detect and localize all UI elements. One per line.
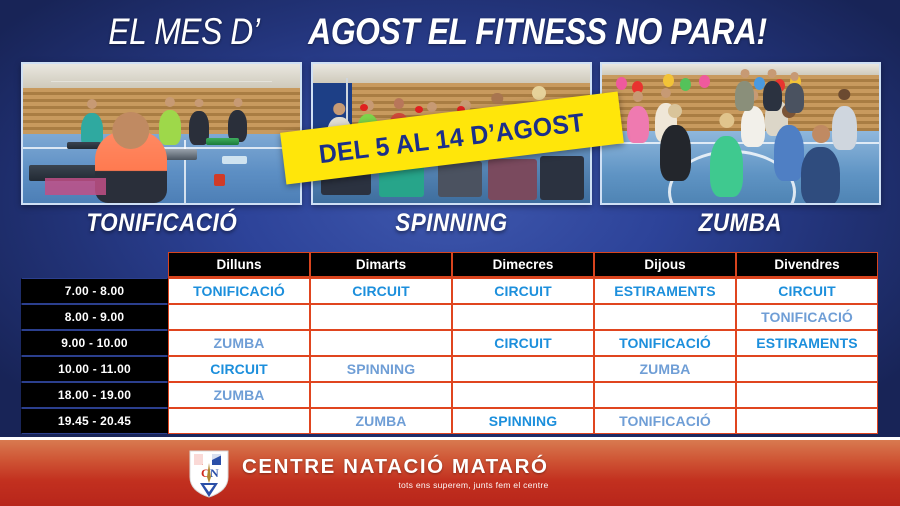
class-slot: TONIFICACIÓ	[736, 304, 878, 330]
class-slot	[310, 304, 452, 330]
category-label-tonificacio: TONIFICACIÓ	[21, 206, 302, 240]
day-header-dilluns: Dilluns	[168, 252, 310, 278]
svg-text:N: N	[210, 466, 219, 480]
footer-bar: C N CENTRE NATACIÓ MATARÓ tots ens super…	[0, 440, 900, 506]
class-slot	[594, 304, 736, 330]
brand-tagline: tots ens superem, junts fem el centre	[242, 480, 549, 490]
time-label: 8.00 - 9.00	[21, 304, 168, 330]
class-slot: ZUMBA	[168, 382, 310, 408]
photo-zumba	[600, 62, 881, 205]
brand-name: CENTRE NATACIÓ MATARÓ	[242, 456, 549, 478]
table-row: 19.45 - 20.45 ZUMBA SPINNING TONIFICACIÓ	[21, 408, 878, 434]
table-row: 9.00 - 10.00 ZUMBA CIRCUIT TONIFICACIÓ E…	[21, 330, 878, 356]
category-label-text: TONIFICACIÓ	[86, 206, 237, 240]
category-label-text: SPINNING	[395, 206, 507, 240]
class-slot: CIRCUIT	[452, 330, 594, 356]
page-title: EL MES D’AGOST EL FITNESS NO PARA!	[0, 8, 900, 56]
class-slot: CIRCUIT	[736, 278, 878, 304]
class-slot	[310, 330, 452, 356]
class-slot	[452, 304, 594, 330]
category-label-text: ZUMBA	[699, 206, 782, 240]
class-slot	[452, 356, 594, 382]
class-slot: SPINNING	[452, 408, 594, 434]
class-slot	[452, 382, 594, 408]
photo-tonificacio	[21, 62, 302, 205]
class-slot: CIRCUIT	[310, 278, 452, 304]
class-slot: ESTIRAMENTS	[736, 330, 878, 356]
table-header-row: Dilluns Dimarts Dimecres Dijous Divendre…	[21, 252, 878, 278]
time-label: 19.45 - 20.45	[21, 408, 168, 434]
table-corner-cell	[21, 252, 168, 278]
category-label-zumba: ZUMBA	[600, 206, 881, 240]
day-header-divendres: Divendres	[736, 252, 878, 278]
brand-text-block: CENTRE NATACIÓ MATARÓ tots ens superem, …	[242, 456, 549, 490]
category-label-spinning: SPINNING	[311, 206, 592, 240]
class-slot: TONIFICACIÓ	[594, 330, 736, 356]
schedule-table: Dilluns Dimarts Dimecres Dijous Divendre…	[21, 252, 878, 434]
day-header-dimarts: Dimarts	[310, 252, 452, 278]
class-slot: SPINNING	[310, 356, 452, 382]
class-slot	[736, 356, 878, 382]
table-row: 10.00 - 11.00 CIRCUIT SPINNING ZUMBA	[21, 356, 878, 382]
class-slot	[736, 382, 878, 408]
time-label: 10.00 - 11.00	[21, 356, 168, 382]
class-slot	[736, 408, 878, 434]
time-label: 7.00 - 8.00	[21, 278, 168, 304]
fitness-promo-poster: EL MES D’AGOST EL FITNESS NO PARA!	[0, 0, 900, 506]
class-slot	[310, 382, 452, 408]
time-label: 18.00 - 19.00	[21, 382, 168, 408]
table-row: 7.00 - 8.00 TONIFICACIÓ CIRCUIT CIRCUIT …	[21, 278, 878, 304]
class-slot: ZUMBA	[168, 330, 310, 356]
page-title-bold: AGOST EL FITNESS NO PARA!	[309, 8, 767, 56]
class-slot	[168, 408, 310, 434]
table-row: 18.00 - 19.00 ZUMBA	[21, 382, 878, 408]
day-header-dijous: Dijous	[594, 252, 736, 278]
class-slot: CIRCUIT	[168, 356, 310, 382]
page-title-light: EL MES D’	[108, 8, 259, 56]
class-slot: ZUMBA	[310, 408, 452, 434]
class-slot: ESTIRAMENTS	[594, 278, 736, 304]
time-label: 9.00 - 10.00	[21, 330, 168, 356]
day-header-dimecres: Dimecres	[452, 252, 594, 278]
class-slot	[168, 304, 310, 330]
class-slot: CIRCUIT	[452, 278, 594, 304]
brand-lockup: C N CENTRE NATACIÓ MATARÓ tots ens super…	[186, 440, 549, 506]
class-slot: TONIFICACIÓ	[594, 408, 736, 434]
class-slot: ZUMBA	[594, 356, 736, 382]
table-row: 8.00 - 9.00 TONIFICACIÓ	[21, 304, 878, 330]
class-slot	[594, 382, 736, 408]
class-slot: TONIFICACIÓ	[168, 278, 310, 304]
shield-logo-icon: C N	[186, 447, 232, 499]
